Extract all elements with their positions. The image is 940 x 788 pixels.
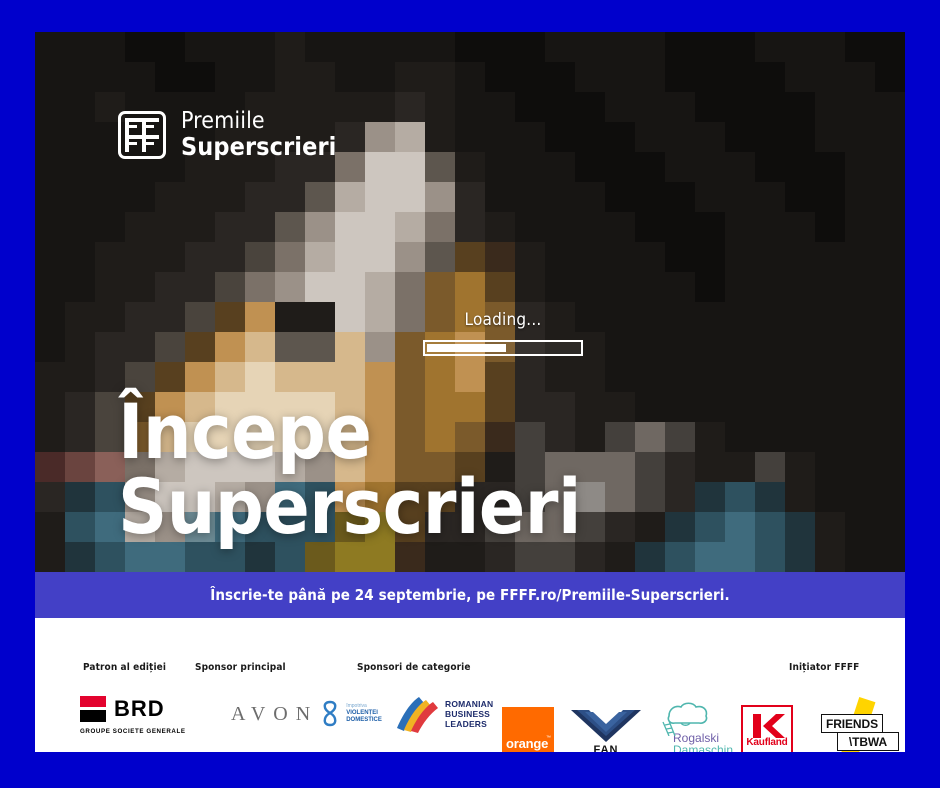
brand-line-1: Premiile	[181, 110, 336, 134]
rogalski-cloud-ladder-icon	[651, 700, 739, 734]
sponsors-section: Patron al ediției Sponsor principal Spon…	[35, 618, 905, 752]
sponsor-logo-orange[interactable]: orange ™	[502, 707, 554, 752]
ffff-logo-icon	[118, 111, 166, 159]
avon-name: AVON	[231, 703, 318, 726]
fan-wings-icon	[571, 708, 641, 742]
brand-logo[interactable]: Premiile Superscrieri	[118, 110, 336, 160]
brd-subtitle: GROUPE SOCIETE GENERALE	[80, 728, 190, 735]
kaufland-name: Kaufland	[743, 737, 791, 748]
promo-card: Premiile Superscrieri Loading... Începe …	[35, 32, 905, 752]
sponsor-logo-brd[interactable]: BRD GROUPE SOCIETE GENERALE	[80, 696, 190, 735]
orange-box-icon: orange ™	[502, 707, 554, 752]
loading-label: Loading...	[423, 310, 583, 330]
headline-line-2: Superscrieri	[118, 470, 581, 544]
rbl-line-2: BUSINESS	[445, 709, 493, 719]
rbl-swoosh-icon	[393, 694, 439, 734]
avon-sub-3: DOMESTICE	[346, 717, 382, 725]
brand-line-2: Superscrieri	[181, 134, 336, 160]
friends-box: FRIENDS	[821, 714, 883, 733]
progress-bar-fill	[427, 344, 506, 352]
fan-name: FAN	[571, 744, 641, 752]
sponsor-logo-romanian-business-leaders[interactable]: ROMANIAN BUSINESS LEADERS	[393, 694, 493, 734]
sponsor-logo-friends-tbwa[interactable]: FRIENDS \TBWA	[821, 702, 901, 752]
avon-ribbon-icon	[320, 700, 340, 728]
orange-name: orange	[506, 736, 548, 751]
page-title: Începe Superscrieri	[118, 395, 581, 544]
friends-label: FRIENDS	[826, 717, 878, 731]
rogalski-line-2: Damaschin	[673, 744, 741, 752]
progress-bar-track	[423, 340, 583, 356]
brd-mark-icon	[80, 696, 106, 722]
brd-name: BRD	[114, 696, 165, 722]
orange-trademark: ™	[546, 735, 551, 741]
rbl-line-1: ROMANIAN	[445, 699, 493, 709]
headline-line-1: Începe	[118, 395, 581, 469]
sponsor-logo-fan-courier[interactable]: FAN C O U R I E R	[571, 708, 641, 752]
label-categorie: Sponsori de categorie	[357, 662, 471, 673]
hero-section: Premiile Superscrieri Loading... Începe …	[35, 32, 905, 572]
brand-logo-text: Premiile Superscrieri	[181, 110, 336, 160]
label-principal: Sponsor principal	[195, 662, 286, 673]
tbwa-box: \TBWA	[837, 732, 899, 751]
sponsor-logo-rogalski-damaschin[interactable]: Rogalski Damaschin good advocates	[651, 700, 741, 752]
kaufland-box-icon: Kaufland	[741, 705, 793, 752]
rbl-text: ROMANIAN BUSINESS LEADERS	[445, 699, 493, 729]
kaufland-k-icon	[752, 713, 786, 739]
banner-text: Înscrie-te până pe 24 septembrie, pe FFF…	[210, 586, 730, 604]
sponsor-logo-kaufland[interactable]: Kaufland	[741, 705, 793, 752]
call-to-action-banner[interactable]: Înscrie-te până pe 24 septembrie, pe FFF…	[35, 572, 905, 618]
tbwa-label: \TBWA	[849, 735, 887, 749]
loading-indicator: Loading...	[423, 310, 583, 356]
label-patron: Patron al ediției	[83, 662, 166, 673]
avon-sub-2: VIOLENȚEI	[346, 710, 382, 718]
label-initiator: Inițiator FFFF	[789, 662, 859, 673]
avon-subtitle: împotriva VIOLENȚEI DOMESTICE	[346, 703, 382, 724]
page-root: Premiile Superscrieri Loading... Începe …	[0, 0, 940, 788]
sponsor-logo-avon[interactable]: AVON împotriva VIOLENȚEI DOMESTICE	[231, 700, 382, 728]
rbl-line-3: LEADERS	[445, 719, 493, 729]
